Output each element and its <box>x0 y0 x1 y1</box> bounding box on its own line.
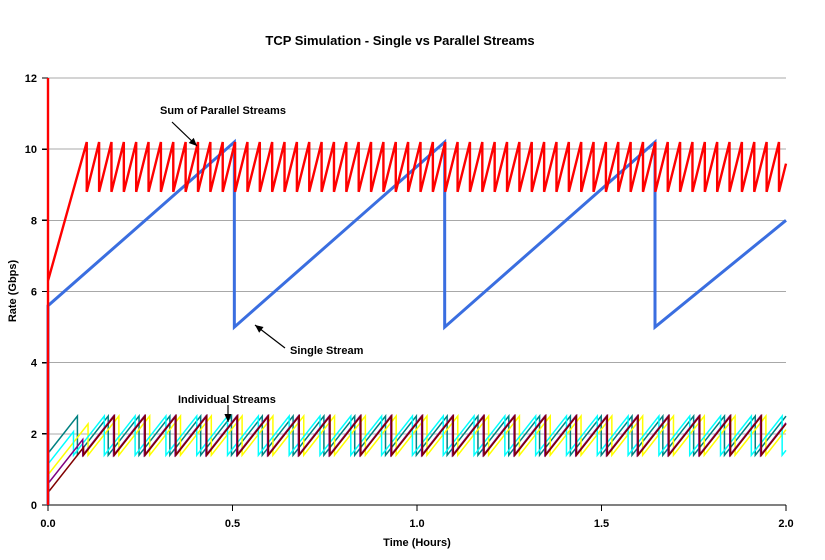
chart-title: TCP Simulation - Single vs Parallel Stre… <box>265 33 534 48</box>
annotation-label: Sum of Parallel Streams <box>160 105 286 117</box>
y-tick-label: 8 <box>31 215 37 227</box>
y-tick-label: 4 <box>31 358 38 370</box>
x-tick-label: 0.5 <box>225 518 240 530</box>
y-tick-label: 12 <box>25 73 37 85</box>
annotation-arrowhead <box>255 325 264 333</box>
x-axis-label: Time (Hours) <box>383 537 451 549</box>
y-tick-label: 6 <box>31 287 37 299</box>
series-individual-streams <box>48 416 786 505</box>
annotation-label: Individual Streams <box>178 394 276 406</box>
x-tick-label: 1.0 <box>409 518 424 530</box>
x-tick-label: 1.5 <box>594 518 609 530</box>
chart-canvas: TCP Simulation - Single vs Parallel Stre… <box>0 0 825 560</box>
chart-page: TCP Simulation - Single vs Parallel Stre… <box>0 0 825 560</box>
x-axis-ticks: 0.00.51.01.52.0 <box>40 505 793 530</box>
gridlines <box>48 78 786 434</box>
y-tick-label: 0 <box>31 500 37 512</box>
annotation-label: Single Stream <box>290 345 364 357</box>
y-tick-label: 2 <box>31 429 37 441</box>
y-axis-label: Rate (Gbps) <box>7 259 19 322</box>
x-tick-label: 0.0 <box>40 518 55 530</box>
y-tick-label: 10 <box>25 144 37 156</box>
y-axis-ticks: 024681012 <box>25 73 48 512</box>
x-tick-label: 2.0 <box>778 518 793 530</box>
